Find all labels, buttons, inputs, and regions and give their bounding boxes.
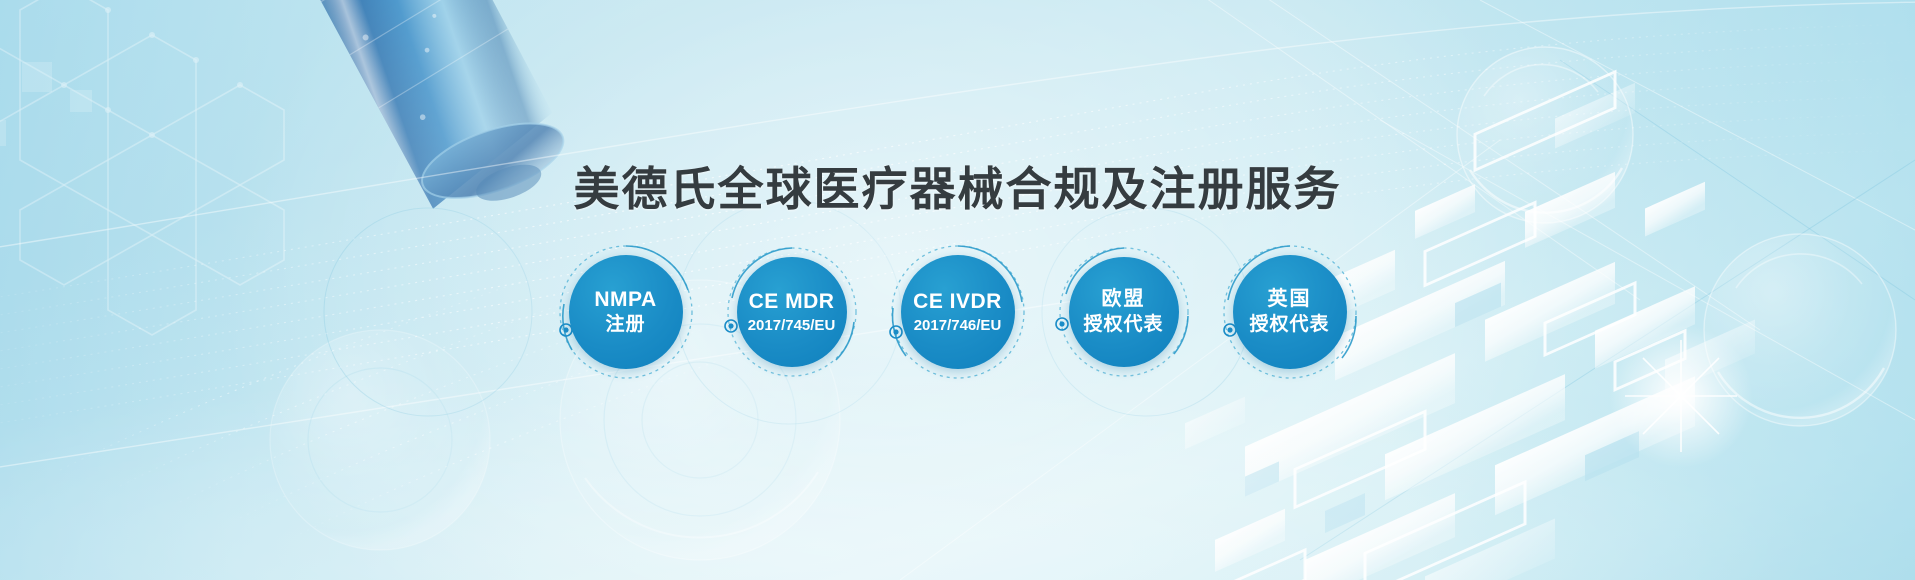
badge-disc[interactable]: 欧盟 授权代表	[1069, 257, 1179, 367]
badge-disc[interactable]: CE MDR 2017/745/EU	[737, 257, 847, 367]
badge-ce-ivdr[interactable]: CE IVDR 2017/746/EU	[884, 238, 1032, 386]
badge-line1: NMPA	[594, 288, 656, 312]
badge-uk-rep[interactable]: 英国 授权代表	[1216, 238, 1364, 386]
badge-line2: 2017/745/EU	[748, 317, 836, 334]
badge-row: NMPA 注册 CE MDR 2017/745/EU	[0, 238, 1915, 386]
page-title: 美德氏全球医疗器械合规及注册服务	[0, 153, 1915, 219]
badge-disc[interactable]: 英国 授权代表	[1233, 255, 1347, 369]
badge-line2: 2017/746/EU	[914, 317, 1002, 334]
badge-eu-rep[interactable]: 欧盟 授权代表	[1050, 238, 1198, 386]
badge-line1: 英国	[1268, 288, 1312, 311]
badge-line2: 授权代表	[1249, 314, 1329, 336]
badge-disc[interactable]: NMPA 注册	[569, 255, 683, 369]
badge-line1: 欧盟	[1102, 288, 1146, 311]
badge-line2: 注册	[605, 314, 645, 336]
badge-line1: CE IVDR	[913, 290, 1002, 314]
hero-banner: 美德氏全球医疗器械合规及注册服务 NMPA 注册	[0, 0, 1915, 580]
badge-disc[interactable]: CE IVDR 2017/746/EU	[901, 255, 1015, 369]
badge-line2: 授权代表	[1083, 314, 1163, 336]
badge-nmpa[interactable]: NMPA 注册	[552, 238, 700, 386]
badge-line1: CE MDR	[749, 290, 835, 314]
badge-ce-mdr[interactable]: CE MDR 2017/745/EU	[718, 238, 866, 386]
